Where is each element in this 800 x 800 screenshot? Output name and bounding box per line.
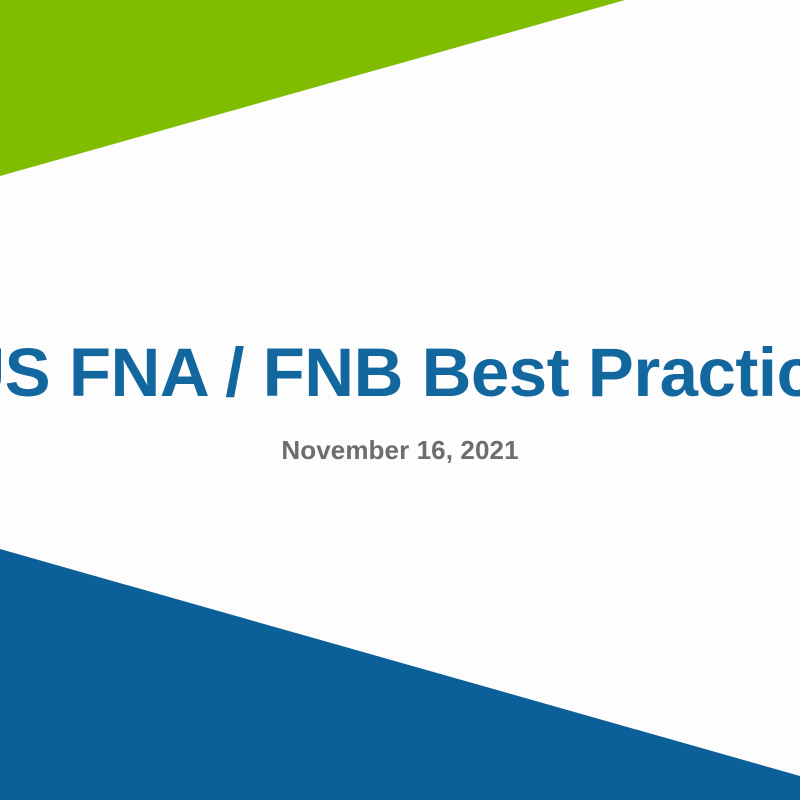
slide-title: EUS FNA / FNB Best Practices	[0, 338, 800, 407]
title-slide: EUS FNA / FNB Best Practices November 16…	[0, 0, 800, 800]
title-block: EUS FNA / FNB Best Practices November 16…	[0, 0, 800, 800]
slide-date-subtitle: November 16, 2021	[281, 407, 518, 463]
